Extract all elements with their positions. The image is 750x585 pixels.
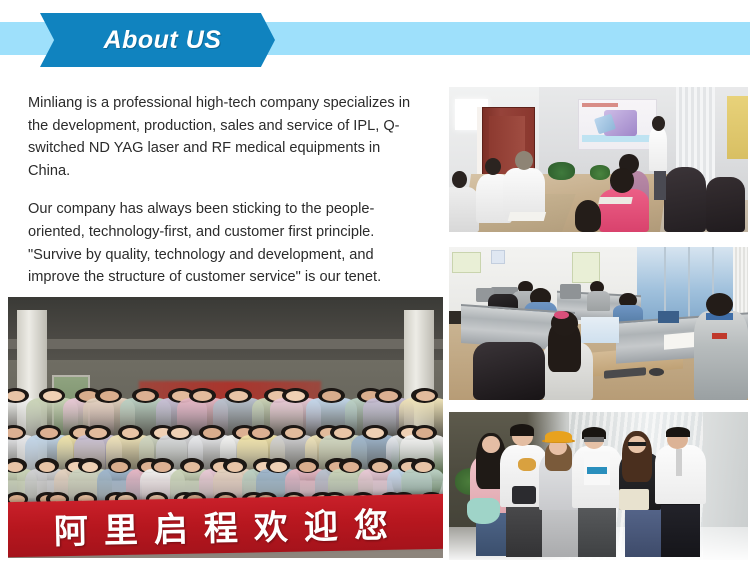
employee-head [706, 293, 733, 316]
documents-on-table [598, 197, 632, 204]
group-member-face [89, 428, 107, 438]
sunglasses [628, 442, 646, 446]
desk-photo-frame [658, 311, 679, 323]
person-legs [661, 504, 700, 557]
uniform-badge [712, 333, 727, 339]
office-chair [664, 167, 706, 232]
page-title: About US [94, 26, 222, 55]
group-member-face [415, 462, 431, 472]
wall-notice [572, 252, 601, 283]
group-photo-scene: 阿里启程欢迎您 [8, 297, 443, 558]
waterfall-scene [449, 412, 748, 560]
person-hair [666, 427, 690, 437]
group-member-face [39, 462, 55, 472]
monitor-screen [581, 317, 620, 343]
person-legs [578, 505, 617, 557]
wall-notice [491, 250, 505, 264]
attendee-head [575, 200, 602, 232]
group-member-face [270, 462, 286, 472]
group-member-face [252, 428, 270, 438]
office-chair [706, 177, 745, 232]
t-shirt-print [587, 467, 608, 474]
person-hair [510, 424, 534, 436]
welcome-banner-text: 阿里启程欢迎您 [47, 497, 404, 553]
monitor-back [560, 284, 581, 299]
group-member-face [111, 462, 127, 472]
person-legs [506, 504, 542, 557]
attendee-body [503, 168, 545, 217]
hoodie-print [518, 458, 536, 471]
orange-cap [545, 431, 572, 441]
about-paragraph-2: Our company has always been sticking to … [28, 198, 418, 288]
office-scene [449, 247, 748, 400]
group-member-face [334, 428, 352, 438]
group-member-face [343, 462, 359, 472]
group-member-face [184, 462, 200, 472]
group-member-face [40, 428, 58, 438]
person-head [482, 436, 500, 454]
shoulder-bag [512, 486, 536, 504]
group-member-face [43, 391, 62, 401]
attendee-body [599, 189, 650, 233]
computer-monitor [599, 297, 623, 315]
group-member-face [82, 462, 98, 472]
shoulder-bag [619, 489, 649, 510]
group-member-face [227, 462, 243, 472]
about-paragraph-1: Minliang is a professional high-tech com… [28, 92, 418, 182]
shirt-placket [676, 449, 682, 476]
group-member-face [285, 428, 303, 438]
handbag [467, 498, 500, 525]
group-member-face [372, 462, 388, 472]
office-chair [473, 342, 545, 400]
presenter-legs [654, 168, 666, 200]
welcome-banner: 阿里启程欢迎您 [8, 494, 443, 557]
attendee-body [449, 187, 479, 232]
potted-plant [590, 165, 611, 180]
group-member-face [203, 428, 221, 438]
header-ribbon: About US [40, 13, 275, 67]
section-header: About US [0, 0, 750, 80]
about-text-block: Minliang is a professional high-tech com… [28, 92, 418, 305]
ceiling-beam [8, 339, 443, 349]
hair-clip [554, 311, 569, 319]
presenter-body [649, 128, 667, 172]
meeting-room-photo [449, 87, 748, 232]
mouse [649, 368, 664, 376]
meeting-room-scene [449, 87, 748, 232]
documents-on-table [508, 212, 546, 221]
group-member-face [299, 462, 315, 472]
person-legs [625, 507, 661, 557]
person-legs [542, 507, 578, 557]
slide-title-bar [582, 103, 618, 107]
group-member-face [416, 428, 434, 438]
wall-poster [727, 96, 748, 160]
team-outing-photo [449, 412, 748, 560]
group-member-face [366, 428, 384, 438]
window-mullion [688, 247, 690, 327]
employee-body [694, 311, 748, 400]
office-photo [449, 247, 748, 400]
group-member-face [100, 391, 119, 401]
ceiling [8, 297, 443, 365]
attendee-head [515, 151, 533, 170]
potted-plant [548, 162, 575, 179]
group-member-face [193, 391, 212, 401]
presenter-head [652, 116, 665, 131]
group-photo: 阿里启程欢迎您 [8, 297, 443, 558]
eyeglasses [584, 437, 605, 441]
group-member-face [416, 391, 435, 401]
group-member-face [171, 428, 189, 438]
group-member-face [154, 462, 170, 472]
wall-notice [452, 252, 481, 274]
